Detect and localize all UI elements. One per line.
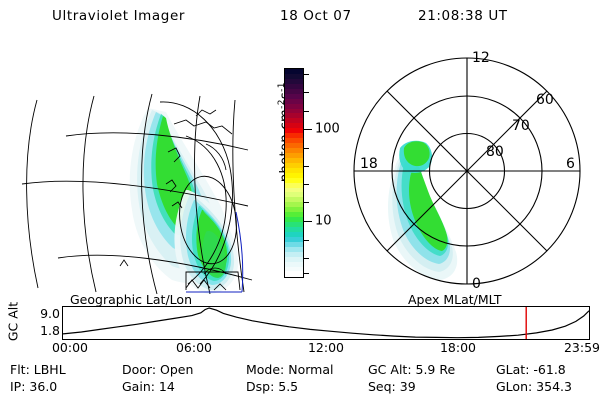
orbit-y-ticks: 9.01.8 [22,306,60,340]
status-mode: Mode: Normal [246,362,333,377]
status-glon: GLon: 354.3 [496,379,572,394]
colorbar-band-41 [285,271,303,276]
instrument-title: Ultraviolet Imager [52,8,185,24]
aurora-emission-polar [388,141,457,280]
orbit-y-tick-0: 9.0 [40,306,60,321]
observation-date: 18 Oct 07 [280,8,352,24]
colorbar-minor-tick-6 [303,202,309,203]
geographic-projection-plot [0,44,266,294]
observation-time: 21:08:38 UT [418,8,508,24]
header-bar: Ultraviolet Imager 18 Oct 07 21:08:38 UT [0,6,600,30]
orbit-trace-svg [63,307,589,339]
colorbar-major-tick-0 [303,129,312,130]
colorbar-minor-tick-4 [303,166,309,167]
status-gain: Gain: 14 [122,379,175,394]
status-seq: Seq: 39 [368,379,416,394]
status-footer: Flt: LBHLDoor: OpenMode: NormalGC Alt: 5… [0,362,600,400]
status-door: Door: Open [122,362,193,377]
geographic-projection-panel [0,44,266,294]
colorbar-panel: photon cm-2s-1 10010 [262,60,340,292]
polar-panel-caption: Apex MLat/MLT [408,292,502,307]
orbit-x-tick-18:00: 18:00 [440,340,476,355]
orbit-x-tick-12:00: 12:00 [308,340,344,355]
polar-label-12: 12 [472,50,490,66]
geographic-panel-caption: Geographic Lat/Lon [70,292,192,307]
status-gc-alt: GC Alt: 5.9 Re [368,362,455,377]
colorbar-tick-label-10: 10 [315,213,332,228]
colorbar-minor-tick-2 [303,111,309,112]
orbit-x-tick-06:00: 06:00 [176,340,212,355]
aurora-emission-geographic [130,108,238,294]
polar-label-6: 6 [566,156,575,172]
colorbar-minor-tick-1 [303,92,309,93]
colorbar-minor-tick-5 [303,184,309,185]
status-dsp: Dsp: 5.5 [246,379,298,394]
polar-dial-plot: 12 6 0 18 60 70 80 [334,44,600,294]
status-flt: Flt: LBHL [10,362,66,377]
orbit-x-axis: 00:0006:0012:0018:0023:59 [0,340,600,360]
colorbar-minor-tick-7 [303,240,309,241]
colorbar-minor-tick-8 [303,258,309,259]
colorbar-minor-tick-3 [303,148,309,149]
orbit-trace-plot[interactable] [62,306,590,340]
orbit-y-tick-1: 1.8 [40,323,60,338]
orbit-x-tick-23:59: 23:59 [564,340,600,355]
colorbar-minor-tick-0 [303,74,309,75]
polar-dial-panel: 12 6 0 18 60 70 80 [334,44,600,294]
polar-label-70: 70 [512,118,530,134]
orbit-altitude-panel: Geographic Lat/Lon Apex MLat/MLT GC Alt … [0,292,600,350]
status-ip: IP: 36.0 [10,379,57,394]
polar-label-0: 0 [472,276,481,292]
status-glat: GLat: -61.8 [496,362,566,377]
colorbar-major-tick-1 [303,221,312,222]
polar-label-60: 60 [536,92,554,108]
polar-label-18: 18 [360,156,378,172]
polar-label-80: 80 [486,144,504,160]
colorbar-gradient [284,68,304,278]
orbit-x-tick-00:00: 00:00 [52,340,88,355]
uvi-display: Ultraviolet Imager 18 Oct 07 21:08:38 UT [0,0,600,400]
colorbar-minor-tick-9 [303,273,309,274]
orbit-altitude-trace [63,308,589,338]
